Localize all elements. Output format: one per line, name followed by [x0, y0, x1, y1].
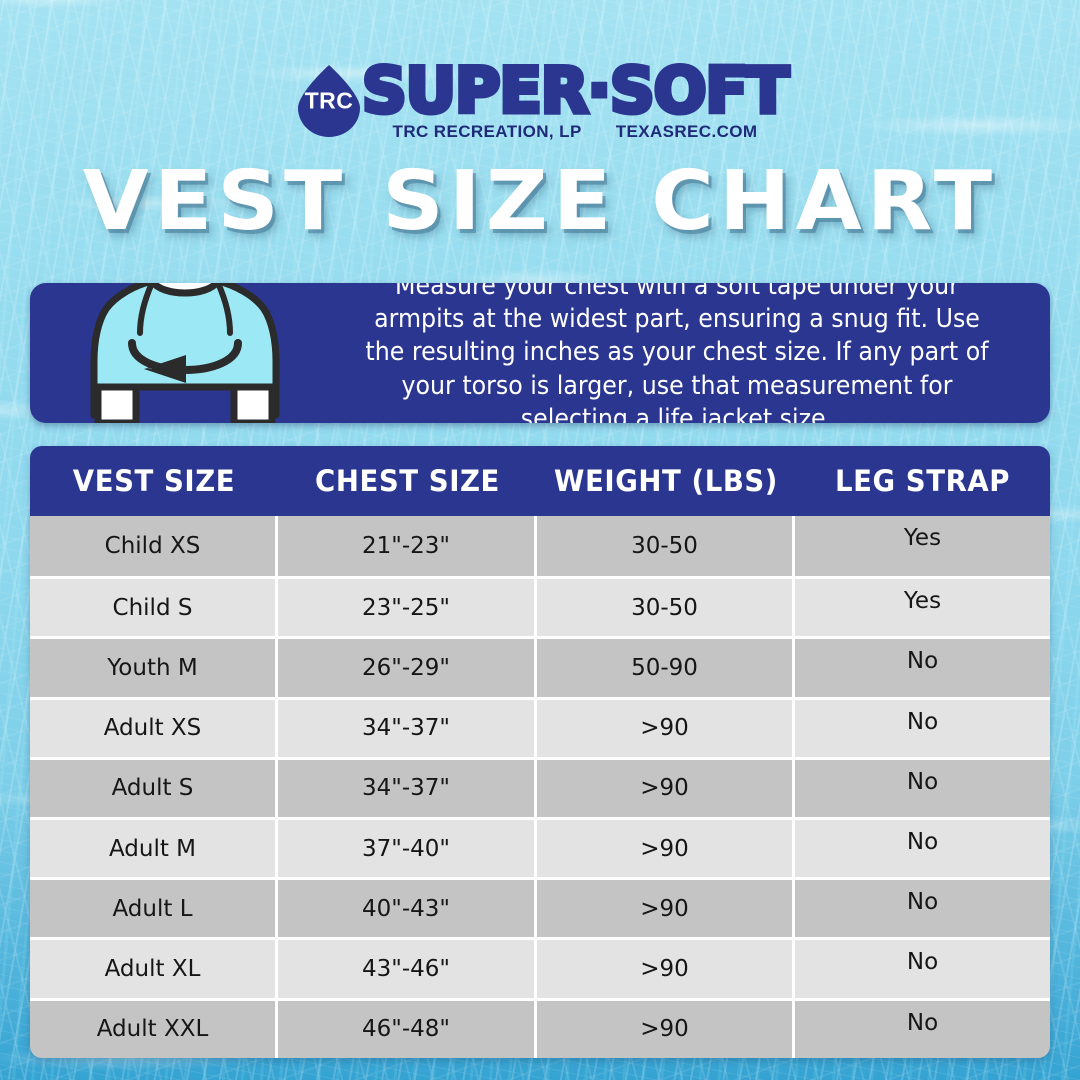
- cell-vest-size: Child S: [30, 576, 278, 636]
- column-header-weight: WEIGHT (LBS): [543, 464, 788, 498]
- brand-logo: TRC SUPER·SOFT TRC RECREATION, LP TEXASR…: [0, 56, 1080, 148]
- cell-vest-size: Adult S: [30, 757, 278, 817]
- cell-weight: 30-50: [537, 516, 795, 576]
- size-chart-table: VEST SIZE CHEST SIZE WEIGHT (LBS) LEG ST…: [30, 446, 1050, 1058]
- cell-vest-size: Adult XS: [30, 697, 278, 757]
- cell-weight: >90: [537, 817, 795, 877]
- cell-leg-strap: No: [795, 757, 1050, 817]
- cell-vest-size: Adult M: [30, 817, 278, 877]
- cell-leg-strap: No: [795, 937, 1050, 997]
- cell-chest-size: 40"-43": [278, 877, 537, 937]
- cell-vest-size: Adult L: [30, 877, 278, 937]
- cell-leg-strap: No: [795, 877, 1050, 937]
- cell-weight: >90: [537, 697, 795, 757]
- torso-measuring-tape-icon: [30, 283, 330, 423]
- cell-leg-strap: Yes: [795, 576, 1050, 636]
- cell-chest-size: 26"-29": [278, 636, 537, 696]
- cell-weight: >90: [537, 998, 795, 1058]
- cell-weight: >90: [537, 877, 795, 937]
- website-url: TEXASREC.COM: [616, 122, 758, 142]
- cell-leg-strap: Yes: [795, 516, 1050, 576]
- table-row: Adult M37"-40">90No: [30, 817, 1050, 877]
- cell-weight: >90: [537, 757, 795, 817]
- cell-vest-size: Youth M: [30, 636, 278, 696]
- table-row: Child XS21"-23"30-50Yes: [30, 516, 1050, 576]
- drop-label: TRC: [292, 88, 366, 115]
- cell-weight: 30-50: [537, 576, 795, 636]
- vest-size-chart-page: TRC SUPER·SOFT TRC RECREATION, LP TEXASR…: [0, 0, 1080, 1080]
- cell-chest-size: 37"-40": [278, 817, 537, 877]
- company-name: TRC RECREATION, LP: [393, 122, 582, 142]
- table-header-row: VEST SIZE CHEST SIZE WEIGHT (LBS) LEG ST…: [30, 446, 1050, 516]
- cell-chest-size: 46"-48": [278, 998, 537, 1058]
- cell-leg-strap: No: [795, 636, 1050, 696]
- cell-weight: 50-90: [537, 636, 795, 696]
- instruction-text: Measure your chest with a soft tape unde…: [354, 283, 999, 423]
- cell-vest-size: Adult XL: [30, 937, 278, 997]
- water-drop-icon: TRC: [292, 63, 366, 137]
- cell-vest-size: Child XS: [30, 516, 278, 576]
- cell-leg-strap: No: [795, 697, 1050, 757]
- table-row: Adult XS34"-37">90No: [30, 697, 1050, 757]
- cell-leg-strap: No: [795, 817, 1050, 877]
- table-row: Adult XL43"-46">90No: [30, 937, 1050, 997]
- instruction-text-wrap: Measure your chest with a soft tape unde…: [330, 283, 1050, 423]
- cell-chest-size: 34"-37": [278, 697, 537, 757]
- cell-chest-size: 34"-37": [278, 757, 537, 817]
- cell-chest-size: 23"-25": [278, 576, 537, 636]
- column-header-chest-size: CHEST SIZE: [284, 464, 530, 498]
- table-row: Youth M26"-29"50-90No: [30, 636, 1050, 696]
- table-body: Child XS21"-23"30-50YesChild S23"-25"30-…: [30, 516, 1050, 1058]
- cell-chest-size: 21"-23": [278, 516, 537, 576]
- table-row: Adult XXL46"-48">90No: [30, 998, 1050, 1058]
- table-row: Adult L40"-43">90No: [30, 877, 1050, 937]
- cell-chest-size: 43"-46": [278, 937, 537, 997]
- wordmark-block: SUPER·SOFT TRC RECREATION, LP TEXASREC.C…: [362, 62, 788, 141]
- column-header-vest-size: VEST SIZE: [36, 464, 272, 498]
- table-row: Child S23"-25"30-50Yes: [30, 576, 1050, 636]
- cell-weight: >90: [537, 937, 795, 997]
- table-row: Adult S34"-37">90No: [30, 757, 1050, 817]
- column-header-leg-strap: LEG STRAP: [801, 464, 1043, 498]
- instruction-banner: Measure your chest with a soft tape unde…: [30, 283, 1050, 423]
- brand-subline: TRC RECREATION, LP TEXASREC.COM: [362, 122, 788, 142]
- page-title: VEST SIZE CHART: [0, 152, 1080, 252]
- cell-vest-size: Adult XXL: [30, 998, 278, 1058]
- cell-leg-strap: No: [795, 998, 1050, 1058]
- wordmark: SUPER·SOFT: [362, 62, 788, 119]
